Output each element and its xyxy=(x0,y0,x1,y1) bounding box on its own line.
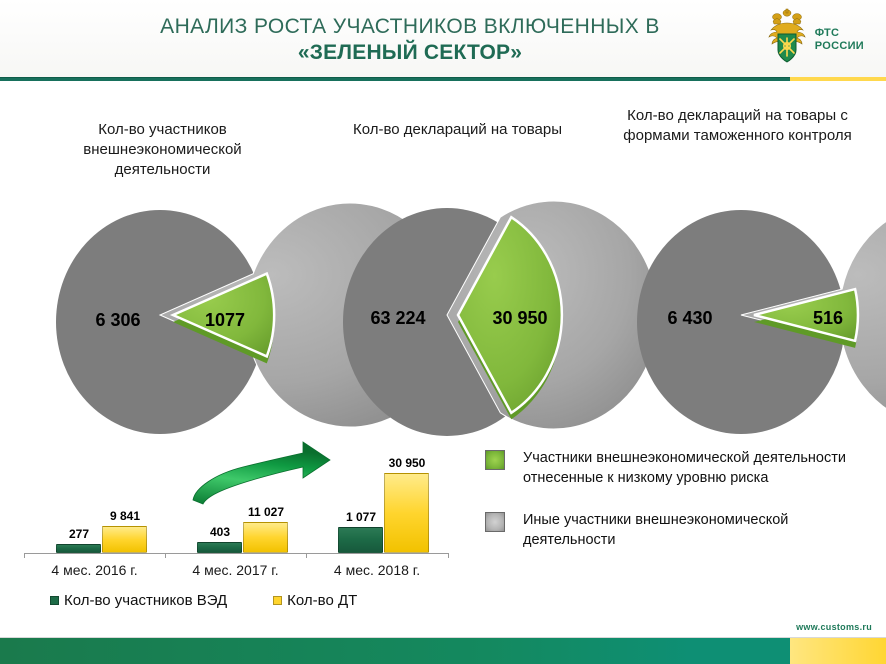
bar-legend-item-declarations[interactable]: Кол-во ДТ xyxy=(273,592,357,609)
page-title: АНАЛИЗ РОСТА УЧАСТНИКОВ ВКЛЮЧЕННЫХ В «ЗЕ… xyxy=(60,14,760,66)
axis-tick xyxy=(306,553,307,558)
legend-swatch-gray-icon xyxy=(485,512,505,532)
bar-category-label-2016: 4 мес. 2016 г. xyxy=(24,562,165,578)
footer-bar xyxy=(0,638,886,664)
logo-line-1: ФТС xyxy=(815,27,864,40)
legend-label-other: Иные участники внешнеэкономической деяте… xyxy=(523,510,880,550)
pie-chart-3-gray-value: 6 430 xyxy=(635,308,745,329)
pie-chart-1-gray-value: 6 306 xyxy=(68,310,168,331)
pie-chart-3-green-value: 516 xyxy=(793,308,863,329)
pie-chart-3: 6 430 516 xyxy=(615,190,875,425)
bar-legend-label-declarations: Кол-во ДТ xyxy=(287,592,357,609)
legend-swatch-green-icon xyxy=(485,450,505,470)
bar-value-participants-2017: 403 xyxy=(187,525,253,539)
bar-category-label-2018: 4 мес. 2018 г. xyxy=(306,562,448,578)
slide-header: АНАЛИЗ РОСТА УЧАСТНИКОВ ВКЛЮЧЕННЫХ В «ЗЕ… xyxy=(0,0,886,77)
bar-value-declarations-2017: 11 027 xyxy=(233,505,299,519)
bar-value-participants-2018: 1 077 xyxy=(328,510,394,524)
legend-item-other[interactable]: Иные участники внешнеэкономической деяте… xyxy=(485,510,880,550)
axis-tick xyxy=(24,553,25,558)
bar-participants-2016[interactable] xyxy=(56,544,101,553)
bar-legend-item-participants[interactable]: Кол-во участников ВЭД xyxy=(50,592,227,609)
organization-logo: ФТС РОССИИ xyxy=(765,8,864,71)
header-rule-yellow xyxy=(790,77,886,81)
legend-swatch-green-icon xyxy=(50,596,59,605)
bar-group-2018: 1 077 30 950 xyxy=(306,440,448,553)
bar-chart-legend: Кол-во участников ВЭД Кол-во ДТ xyxy=(50,592,357,609)
russian-customs-emblem-icon xyxy=(765,8,809,71)
bar-value-declarations-2018: 30 950 xyxy=(374,456,440,470)
legend-swatch-yellow-icon xyxy=(273,596,282,605)
pie-chart-2-green-value: 30 950 xyxy=(465,308,575,329)
pie-chart-1-title: Кол-во участников внешнеэкономической де… xyxy=(55,120,270,180)
pie-chart-2: 63 224 30 950 xyxy=(325,190,575,430)
axis-tick xyxy=(165,553,166,558)
bar-participants-2017[interactable] xyxy=(197,542,242,553)
pie-chart-1-green-value: 1077 xyxy=(185,310,265,331)
bar-chart: 277 9 841 403 11 027 1 077 30 950 4 мес.… xyxy=(10,440,460,615)
header-accent-rule xyxy=(0,77,886,81)
logo-line-2: РОССИИ xyxy=(815,40,864,53)
legend-item-low-risk[interactable]: Участники внешнеэкономической деятельнос… xyxy=(485,448,880,488)
pie-chart-2-gray-value: 63 224 xyxy=(343,308,453,329)
title-line-1: АНАЛИЗ РОСТА УЧАСТНИКОВ ВКЛЮЧЕННЫХ В xyxy=(60,14,760,40)
bar-group-2017: 403 11 027 xyxy=(165,440,306,553)
slide-canvas: АНАЛИЗ РОСТА УЧАСТНИКОВ ВКЛЮЧЕННЫХ В «ЗЕ… xyxy=(0,0,886,664)
bar-legend-label-participants: Кол-во участников ВЭД xyxy=(64,592,227,609)
bar-participants-2018[interactable] xyxy=(338,527,383,553)
bar-value-participants-2016: 277 xyxy=(46,527,112,541)
pie-chart-legend: Участники внешнеэкономической деятельнос… xyxy=(485,448,880,572)
pie-chart-3-title: Кол-во деклараций на товары с формами та… xyxy=(600,106,875,146)
pie-chart-2-title: Кол-во деклараций на товары xyxy=(320,120,595,140)
title-line-2: «ЗЕЛЕНЫЙ СЕКТОР» xyxy=(60,40,760,66)
footer-bar-yellow xyxy=(790,638,886,664)
pie-chart-1: 6 306 1077 xyxy=(30,190,280,425)
bar-group-2016: 277 9 841 xyxy=(24,440,165,553)
footer-url[interactable]: www.customs.ru xyxy=(796,622,872,632)
logo-text: ФТС РОССИИ xyxy=(815,27,864,53)
bar-value-declarations-2016: 9 841 xyxy=(92,509,158,523)
bar-chart-axis xyxy=(24,553,449,554)
bar-category-label-2017: 4 мес. 2017 г. xyxy=(165,562,306,578)
axis-tick xyxy=(448,553,449,558)
header-rule-thin xyxy=(0,77,790,78)
legend-label-low-risk: Участники внешнеэкономической деятельнос… xyxy=(523,448,880,488)
